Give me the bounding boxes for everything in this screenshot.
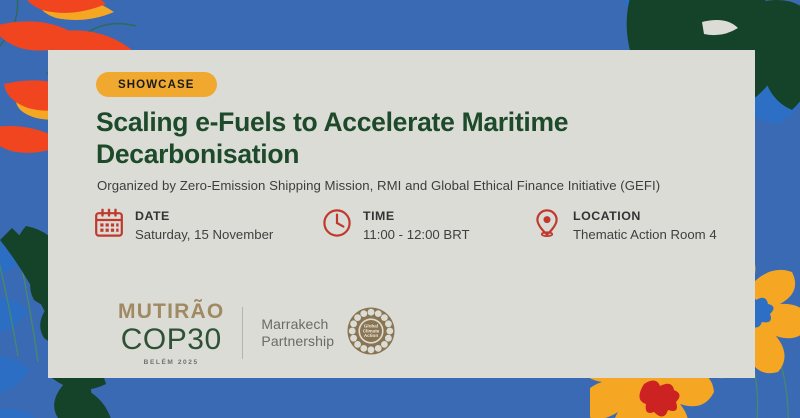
detail-value: Saturday, 15 November bbox=[135, 226, 273, 244]
belem-year-text: BELÉM 2025 bbox=[118, 359, 224, 366]
global-climate-action-emblem: Global Climate Action bbox=[346, 306, 396, 361]
organizers-text: Organized by Zero-Emission Shipping Miss… bbox=[97, 178, 757, 193]
badge-label: SHOWCASE bbox=[118, 79, 195, 91]
event-details-row: DATE Saturday, 15 November TIME 11:00 - … bbox=[94, 208, 735, 243]
detail-value: 11:00 - 12:00 BRT bbox=[363, 226, 470, 244]
event-card: SHOWCASE Scaling e-Fuels to Accelerate M… bbox=[48, 50, 755, 378]
detail-time: TIME 11:00 - 12:00 BRT bbox=[322, 208, 532, 243]
cop30-wordmark: COP30 bbox=[118, 324, 224, 356]
marrakech-partnership-text: Marrakech Partnership bbox=[261, 316, 334, 351]
mutirao-wordmark: MUTIRÃO bbox=[118, 301, 224, 322]
marrakech-line-2: Partnership bbox=[261, 333, 334, 351]
marrakech-partnership-logo: Marrakech Partnership bbox=[242, 307, 396, 359]
detail-value: Thematic Action Room 4 bbox=[573, 226, 717, 244]
cop30-logo: MUTIRÃO COP30 BELÉM 2025 bbox=[118, 301, 224, 367]
detail-location: LOCATION Thematic Action Room 4 bbox=[532, 208, 717, 243]
flower-center-red bbox=[639, 380, 679, 416]
page-title: Scaling e-Fuels to Accelerate Maritime D… bbox=[96, 107, 716, 171]
logo-row: MUTIRÃO COP30 BELÉM 2025 Marrakech Partn… bbox=[118, 301, 396, 367]
event-banner: SHOWCASE Scaling e-Fuels to Accelerate M… bbox=[0, 0, 800, 418]
location-pin-icon bbox=[532, 208, 562, 243]
marrakech-line-1: Marrakech bbox=[261, 316, 334, 334]
detail-label: LOCATION bbox=[573, 209, 717, 225]
emblem-line-3: Action bbox=[364, 333, 378, 338]
detail-label: TIME bbox=[363, 209, 470, 225]
calendar-icon bbox=[94, 208, 124, 243]
detail-label: DATE bbox=[135, 209, 273, 225]
status-badge: SHOWCASE bbox=[96, 72, 217, 97]
clock-icon bbox=[322, 208, 352, 243]
detail-date: DATE Saturday, 15 November bbox=[94, 208, 322, 243]
